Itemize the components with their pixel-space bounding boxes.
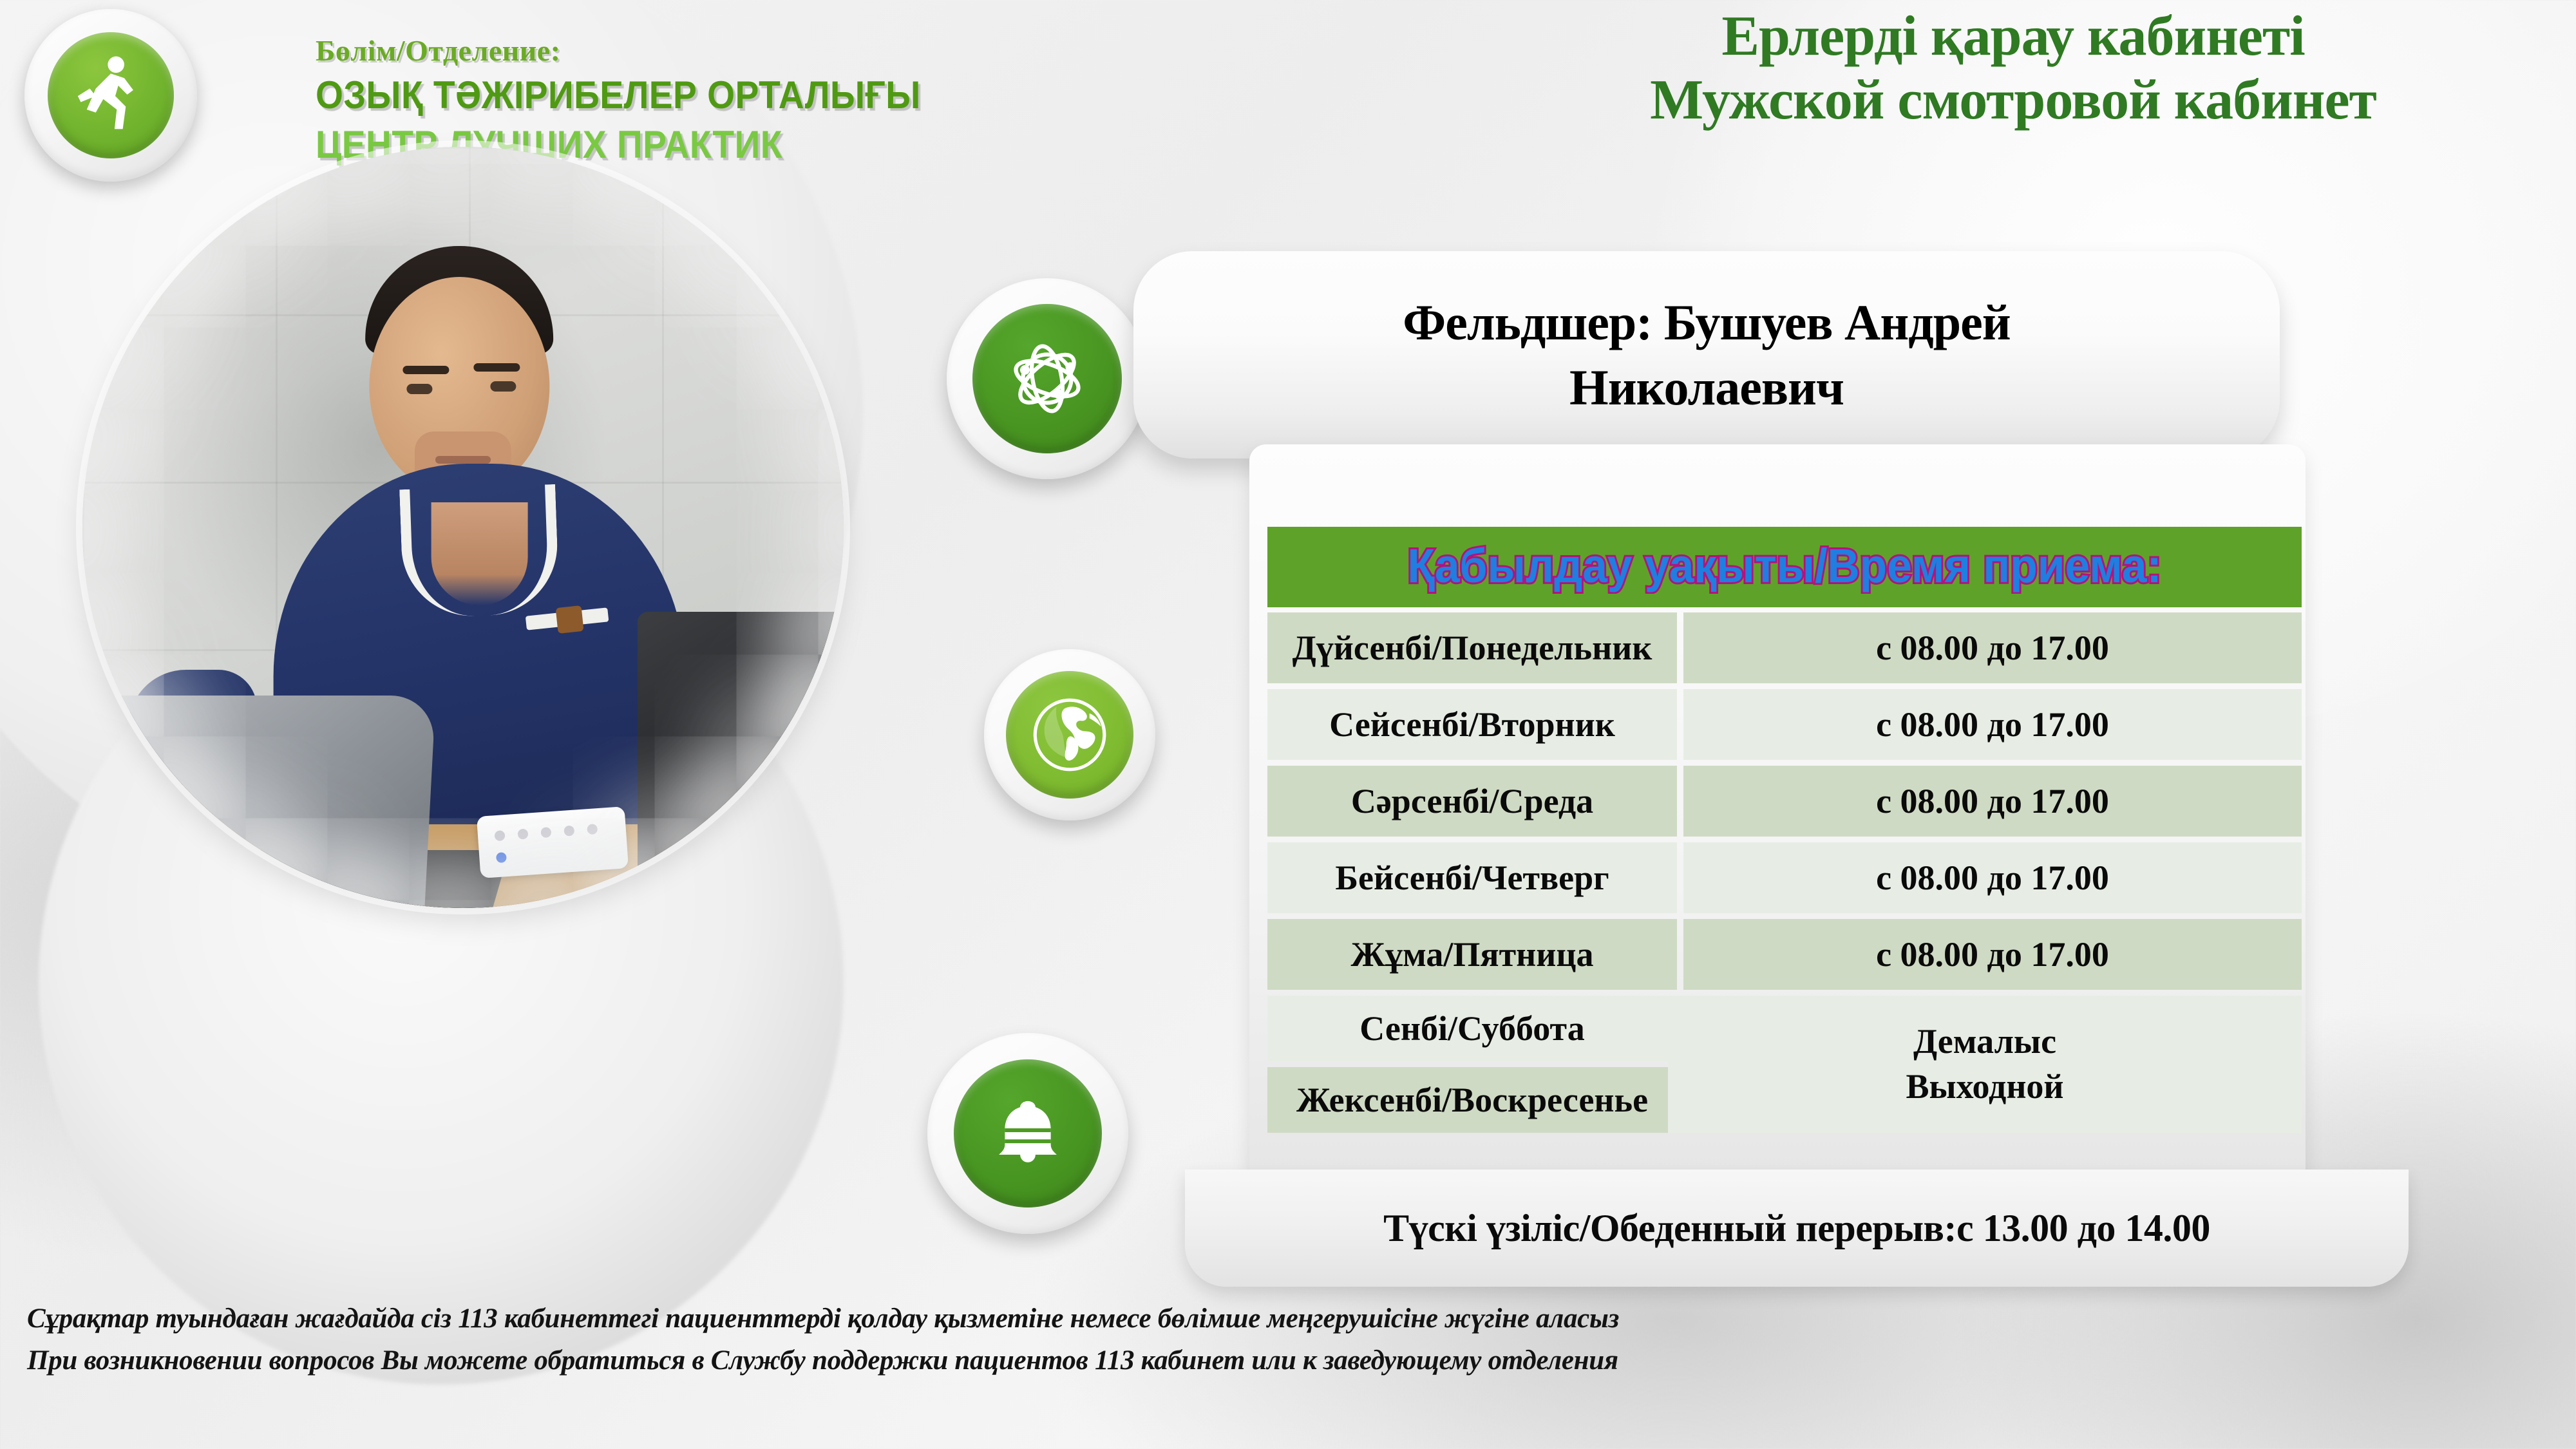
atom-icon-button[interactable]	[947, 278, 1148, 479]
atom-icon-disc	[972, 304, 1122, 453]
weekend-off-cell: Демалыс Выходной	[1668, 996, 2302, 1133]
weekend-off-ru: Выходной	[1906, 1065, 2063, 1109]
staff-name: Фельдшер: Бушуев Андрей Николаевич	[1403, 290, 2010, 421]
poster-root: Бөлім/Отделение: ОЗЫҚ ТӘЖІРИБЕЛЕР ОРТАЛЫ…	[0, 0, 2576, 1449]
weekend-days: Сенбі/Суббота Жексенбі/Воскресенье	[1267, 996, 1662, 1133]
photo-phone	[477, 806, 629, 878]
department-name-kz: ОЗЫҚ ТӘЖІРИБЕЛЕР ОРТАЛЫҒЫ	[316, 71, 921, 118]
photo-collar-trim	[399, 484, 560, 618]
table-row: Сейсенбі/Вторник с 08.00 до 17.00	[1267, 689, 2302, 760]
lunch-break-text: Түскі үзіліс/Обеденный перерыв:с 13.00 д…	[1383, 1206, 2210, 1251]
schedule-time: с 08.00 до 17.00	[1683, 919, 2302, 990]
schedule-time: с 08.00 до 17.00	[1683, 689, 2302, 760]
footer-note: Сұрақтар туындаған жағдайда сіз 113 каби…	[27, 1298, 2217, 1381]
photo-eye-right	[490, 381, 516, 392]
staff-photo	[82, 147, 844, 908]
running-man-icon	[73, 54, 149, 137]
bell-icon	[985, 1091, 1070, 1176]
schedule-day-saturday: Сенбі/Суббота	[1267, 996, 1677, 1061]
schedule-day-sunday: Жексенбі/Воскресенье	[1267, 1067, 1677, 1133]
schedule-day: Бейсенбі/Четверг	[1267, 842, 1677, 913]
schedule-day: Сейсенбі/Вторник	[1267, 689, 1677, 760]
schedule-time: с 08.00 до 17.00	[1683, 612, 2302, 683]
page-title-kz: Ерлерді қарау кабинеті	[1721, 5, 2304, 68]
footer-line-kz: Сұрақтар туындаған жағдайда сіз 113 каби…	[27, 1298, 2217, 1340]
table-row: Сәрсенбі/Среда с 08.00 до 17.00	[1267, 766, 2302, 837]
footer-line-ru: При возникновении вопросов Вы можете обр…	[27, 1340, 2217, 1382]
photo-brow-left	[402, 366, 449, 374]
photo-laptop	[82, 696, 436, 908]
lunch-break-bar: Түскі үзіліс/Обеденный перерыв:с 13.00 д…	[1185, 1170, 2409, 1287]
table-row: Дүйсенбі/Понедельник с 08.00 до 17.00	[1267, 612, 2302, 683]
schedule-day: Сәрсенбі/Среда	[1267, 766, 1677, 837]
bell-icon-button[interactable]	[927, 1033, 1128, 1234]
weekend-block: Сенбі/Суббота Жексенбі/Воскресенье Демал…	[1267, 996, 2302, 1133]
staff-name-line1: Фельдшер: Бушуев Андрей	[1403, 290, 2010, 355]
schedule-time: с 08.00 до 17.00	[1683, 766, 2302, 837]
logo-green-disc	[48, 32, 174, 158]
schedule-heading-text: Қабылдау уақыты/Время приема:	[1407, 538, 2161, 593]
photo-pocket-badge	[556, 605, 584, 634]
schedule-table: Қабылдау уақыты/Время приема: Дүйсенбі/П…	[1267, 527, 2302, 1133]
globe-icon	[1028, 694, 1111, 776]
photo-mouth	[435, 456, 491, 464]
schedule-time: с 08.00 до 17.00	[1683, 842, 2302, 913]
staff-name-plate: Фельдшер: Бушуев Андрей Николаевич	[1133, 251, 2280, 459]
weekend-off-kz: Демалыс	[1913, 1019, 2056, 1064]
globe-icon-disc	[1006, 671, 1133, 799]
photo-brow-right	[473, 363, 520, 372]
photo-monitor	[638, 612, 844, 889]
schedule-rows: Дүйсенбі/Понедельник с 08.00 до 17.00 Се…	[1267, 612, 2302, 1133]
photo-eye-left	[406, 384, 432, 394]
table-row: Бейсенбі/Четверг с 08.00 до 17.00	[1267, 842, 2302, 913]
staff-name-line2: Николаевич	[1403, 355, 2010, 420]
atom-icon	[999, 330, 1095, 427]
bell-icon-disc	[954, 1059, 1102, 1207]
schedule-day: Жұма/Пятница	[1267, 919, 1677, 990]
schedule-day: Дүйсенбі/Понедельник	[1267, 612, 1677, 683]
schedule-header: Қабылдау уақыты/Время приема:	[1267, 527, 2302, 607]
department-label: Бөлім/Отделение:	[316, 33, 973, 68]
globe-icon-button[interactable]	[984, 649, 1155, 820]
photo-content	[82, 147, 844, 908]
table-row: Жұма/Пятница с 08.00 до 17.00	[1267, 919, 2302, 990]
page-title: Ерлерді қарау кабинеті Мужской смотровой…	[1466, 5, 2561, 132]
page-title-ru: Мужской смотровой кабинет	[1466, 69, 2561, 133]
